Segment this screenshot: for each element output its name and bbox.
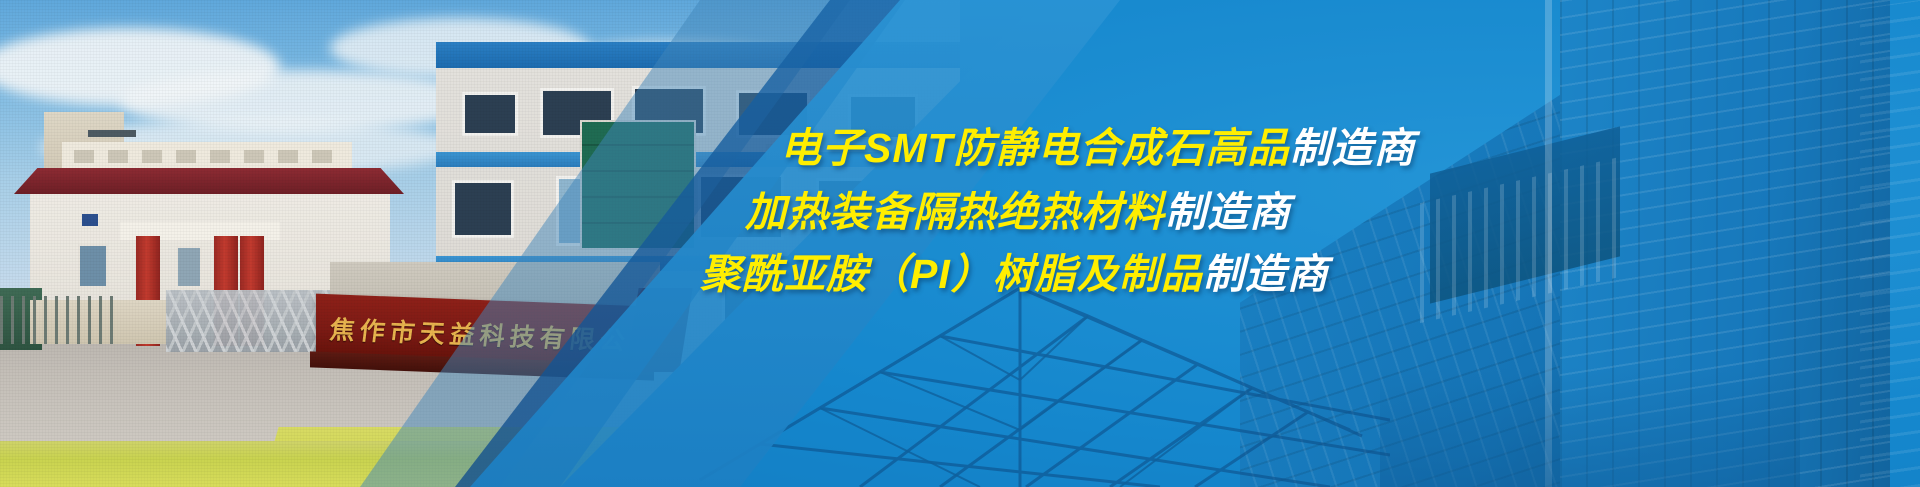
hero-banner[interactable]: 焦作市天益科技有限公司 xyxy=(0,0,1920,487)
